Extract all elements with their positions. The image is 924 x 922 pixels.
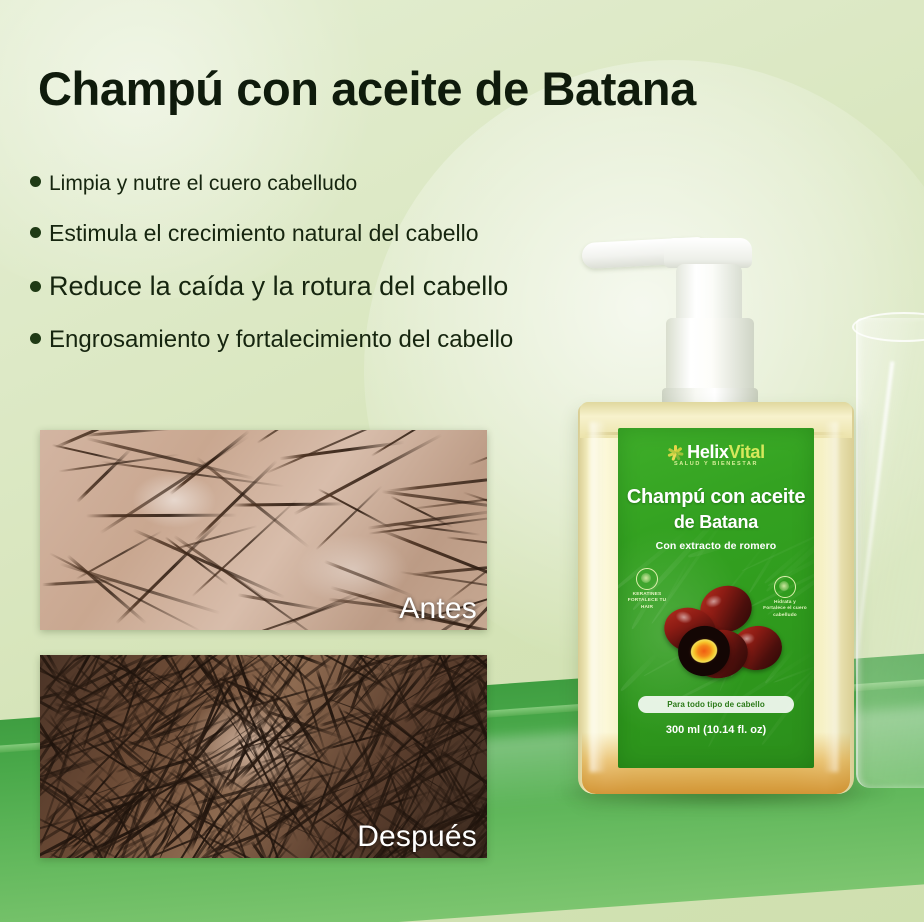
hair-strand (305, 844, 358, 858)
hair-strand (175, 751, 254, 827)
hair-strand (129, 655, 205, 682)
hair-strand (330, 655, 385, 692)
label-title-line-2: de Batana (624, 512, 808, 533)
hair-strand (391, 496, 455, 529)
hair-strand (186, 655, 234, 710)
product-bottle: HelixVital SALUD Y BIENESTAR Champú con … (578, 232, 858, 800)
hair-strand (95, 774, 141, 820)
hair-strand (40, 718, 67, 771)
hair-strand (482, 691, 487, 722)
hair-strand (260, 748, 324, 805)
hair-strand (273, 791, 326, 818)
hair-strand (262, 842, 293, 858)
before-caption: Antes (399, 592, 477, 626)
hair-strand (276, 784, 354, 842)
hair-strand (267, 815, 340, 848)
hair-strand (205, 811, 235, 853)
hair-strand (71, 655, 114, 663)
hair-strand (436, 655, 470, 737)
hair-strand (125, 763, 162, 790)
hair-strand (409, 701, 487, 741)
hair-strand (138, 658, 193, 753)
hair-strand (59, 562, 221, 614)
hair-strand (357, 672, 379, 717)
hair-strand (375, 709, 423, 748)
hair-strand (272, 791, 295, 833)
hair-strand (95, 655, 176, 716)
hair-strand (361, 685, 391, 759)
hair-strand (169, 655, 193, 699)
hair-strand (106, 655, 173, 705)
hair-strand (228, 679, 279, 713)
hair-strand (40, 655, 61, 677)
hair-strand (200, 591, 375, 630)
hair-strand (40, 693, 68, 718)
hair-strand (138, 714, 179, 779)
hair-strand (82, 792, 161, 819)
hair-strand (52, 799, 87, 858)
hair-strand (54, 701, 116, 724)
hair-strand (457, 707, 487, 762)
hair-strand (300, 655, 344, 682)
hair-strand (184, 735, 278, 782)
hair-strand (122, 686, 200, 732)
hair-strand (226, 655, 265, 733)
hair-strand (425, 655, 487, 680)
hair-strand (425, 746, 487, 778)
hair-strand (183, 775, 210, 832)
hair-strand (40, 655, 62, 685)
hair-strand (295, 662, 327, 760)
hair-strand (59, 658, 154, 712)
hair-strand (202, 780, 239, 842)
hair-strand (204, 655, 240, 730)
hair-strand (417, 759, 465, 784)
hair-strand (306, 748, 342, 843)
hair-strand (40, 841, 90, 858)
hair-strand (368, 509, 487, 530)
hair-strand (229, 709, 302, 761)
hair-strand (79, 833, 148, 858)
hair-strand (320, 704, 395, 733)
hair-strand (53, 676, 113, 725)
hair-strand (328, 655, 412, 711)
hair-strand (170, 682, 219, 745)
hair-strand (356, 702, 381, 743)
list-item: Limpia y nutre el cuero cabelludo (30, 172, 570, 196)
hair-strand (330, 655, 405, 706)
hair-strand (361, 655, 390, 684)
hair-strand (157, 706, 187, 748)
hair-strand (464, 696, 487, 770)
hair-strand (249, 662, 278, 693)
benefit-label: Reduce la caída y la rotura del cabello (49, 271, 508, 302)
bullet-dot-icon (30, 176, 41, 187)
hair-strand (408, 719, 487, 750)
hair-strand (283, 819, 332, 858)
hair-strand (49, 853, 90, 858)
hair-strand (479, 799, 487, 858)
hair-strand (59, 667, 98, 736)
label-subtitle: Con extracto de romero (624, 540, 808, 552)
hair-strand (114, 793, 190, 851)
hair-strand (124, 658, 210, 699)
hair-strand (40, 816, 129, 858)
hair-strand (226, 688, 255, 730)
hair-strand (174, 655, 283, 668)
hair-strand (116, 671, 225, 713)
hair-strand (326, 764, 381, 793)
hair-strand (276, 765, 317, 858)
hair-strand (166, 770, 223, 805)
hair-strand (257, 655, 331, 682)
hair-strand (58, 777, 163, 852)
hair-strand (40, 655, 47, 710)
hair-strand (461, 711, 487, 760)
hair-strand (136, 791, 178, 858)
hair-strand (188, 812, 243, 841)
hair-strand (239, 814, 310, 858)
hair-strand (191, 695, 236, 748)
hair-strand (447, 785, 487, 818)
hair-strand (238, 681, 326, 780)
hair-strand (204, 781, 278, 813)
hair-strand (102, 673, 139, 714)
hair-strand (96, 714, 139, 788)
hair-strand (171, 723, 218, 752)
hair-strand (71, 774, 132, 824)
hair-strand (48, 760, 110, 830)
hair-strand (149, 694, 206, 727)
hair-strand (455, 726, 487, 810)
hair-strand (240, 681, 338, 710)
hair-strand (187, 655, 248, 693)
hair-strand (257, 793, 319, 835)
hair-strand (213, 655, 293, 691)
hair-strand (144, 827, 221, 858)
bottle-highlight-right (824, 422, 838, 772)
hair-strand (452, 658, 487, 714)
hair-strand (206, 760, 291, 847)
hair-strand (359, 719, 467, 793)
hair-strand (249, 743, 299, 843)
hair-strand (40, 831, 124, 858)
hair-strand (40, 736, 80, 795)
hair-strand (244, 732, 324, 779)
hair-strand (415, 655, 478, 686)
hair-strand (49, 713, 78, 761)
hair-strand (453, 721, 487, 761)
hair-type-label: Para todo tipo de cabello (667, 700, 765, 709)
hair-strand (86, 781, 141, 858)
hair-strand (169, 430, 250, 495)
hair-strand (274, 718, 391, 772)
hair-strand (260, 655, 306, 730)
hair-strand (460, 737, 487, 827)
brand-tagline: SALUD Y BIENESTAR (618, 461, 814, 467)
hair-strand (84, 693, 174, 782)
hair-strand (61, 784, 100, 858)
hair-strand (346, 683, 405, 748)
hair-strand (226, 714, 263, 769)
hair-strand (124, 722, 200, 748)
hair-strand (86, 437, 255, 480)
hair-strand (428, 655, 458, 677)
hair-strand (415, 771, 457, 827)
hair-strand (216, 655, 258, 706)
hair-strand (447, 671, 487, 732)
hair-strand (229, 703, 263, 791)
hair-strand (197, 837, 226, 858)
hair-strand (416, 655, 466, 708)
hair-strand (138, 775, 192, 858)
hair-strand (451, 768, 487, 802)
hair-strand (427, 673, 487, 716)
hair-strand (241, 776, 318, 827)
hair-strand (256, 797, 321, 838)
hair-strand (417, 723, 469, 821)
hair-strand (342, 710, 387, 735)
volume-label: 300 ml (10.14 fl. oz) (618, 724, 814, 736)
hair-strand (134, 720, 194, 831)
hair-strand (83, 430, 181, 437)
list-item: Reduce la caída y la rotura del cabello (30, 271, 570, 302)
hair-strand (212, 698, 289, 765)
hair-strand (245, 815, 281, 841)
hair-strand (133, 655, 199, 713)
hair-strand (172, 838, 263, 858)
hair-strand (408, 657, 487, 714)
hair-strand (76, 666, 111, 702)
hair-strand (403, 672, 450, 721)
hair-strand (457, 697, 487, 731)
hair-strand (280, 655, 333, 669)
hair-strand (151, 655, 255, 733)
hair-strand (434, 769, 459, 817)
hair-strand (235, 784, 330, 816)
hair-strand (305, 683, 361, 717)
hair-strand (319, 655, 365, 700)
list-item: Engrosamiento y fortalecimiento del cabe… (30, 326, 570, 354)
hair-strand (248, 694, 316, 762)
hair-strand (40, 816, 111, 858)
hair-strand (160, 805, 212, 852)
hair-strand (228, 850, 279, 858)
hair-strand (56, 695, 113, 714)
hair-strand (206, 655, 291, 694)
hair-strand (123, 738, 189, 767)
hair-strand (202, 830, 240, 858)
hair-strand (127, 655, 194, 698)
hair-strand (477, 724, 487, 774)
hair-strand (342, 750, 382, 824)
hair-strand (40, 655, 80, 708)
hair-strand (435, 711, 471, 745)
hair-strand (59, 719, 99, 768)
hair-strand (315, 486, 382, 551)
hair-strand (405, 698, 487, 740)
hair-strand (215, 676, 294, 705)
hair-strand (116, 655, 156, 701)
hair-strand (420, 785, 485, 821)
hair-strand (92, 795, 125, 830)
hair-strand (204, 807, 228, 847)
hair-strand (49, 552, 201, 630)
hair-strand (381, 490, 487, 511)
hair-strand (115, 754, 162, 772)
hair-strand (75, 811, 128, 858)
hair-strand (404, 681, 462, 723)
hair-strand (278, 770, 341, 858)
hair-strand (234, 659, 269, 728)
hair-strand (476, 676, 487, 740)
hair-strand (62, 655, 133, 702)
hair-strand (164, 537, 228, 587)
hair-strand (164, 658, 222, 733)
brand-name-primary: Helix (687, 442, 729, 462)
hair-strand (383, 655, 425, 720)
hair-strand (405, 769, 428, 817)
hair-strand (241, 657, 275, 728)
hair-strand (40, 655, 75, 658)
hair-strand (108, 772, 166, 824)
hair-strand (321, 696, 396, 724)
hair-strand (70, 655, 99, 687)
hair-strand (151, 655, 253, 703)
hair-strand (40, 762, 93, 818)
hair-strand (304, 825, 341, 858)
hair-strand (106, 796, 198, 858)
hair-strand (172, 655, 232, 683)
hair-strand (433, 696, 478, 739)
hair-strand (415, 661, 460, 781)
hair-strand (80, 689, 133, 740)
hair-strand (86, 655, 167, 699)
list-item: Estimula el crecimiento natural del cabe… (30, 220, 570, 247)
hair-strand (106, 794, 140, 851)
hair-strand (463, 492, 487, 543)
hair-strand (390, 776, 432, 801)
hair-strand (401, 655, 431, 694)
hair-strand (475, 669, 487, 728)
hair-strand (40, 710, 104, 794)
hair-strand (220, 671, 265, 773)
hair-strand (235, 775, 262, 838)
hair-strand (368, 515, 487, 534)
hair-strand (252, 817, 302, 858)
hair-strand (474, 706, 487, 742)
hair-strand (380, 674, 447, 757)
hair-strand (135, 664, 187, 689)
hair-strand (129, 810, 175, 858)
hair-strand (151, 719, 220, 781)
badge-ring-icon (636, 568, 658, 590)
hair-strand (151, 732, 236, 781)
hair-strand (390, 655, 487, 668)
hair-strand (376, 750, 428, 807)
hair-strand (52, 655, 104, 722)
hair-strand (344, 787, 443, 819)
hair-strand (171, 525, 258, 551)
hair-strand (412, 740, 442, 776)
hair-strand (256, 430, 318, 443)
hair-strand (40, 815, 85, 838)
hair-strand (281, 754, 315, 821)
hair-strand (250, 840, 276, 858)
hair-strand (128, 756, 184, 838)
hair-strand (365, 659, 426, 728)
hair-strand (435, 691, 487, 775)
hair-strand (91, 804, 190, 855)
hair-strand (190, 771, 315, 806)
hair-strand (40, 669, 79, 734)
hair-strand (426, 757, 453, 793)
hair-strand (370, 706, 457, 771)
hair-strand (266, 775, 323, 856)
hair-strand (369, 655, 446, 738)
hair-strand (58, 453, 179, 471)
hair-strand (156, 766, 228, 789)
hair-strand (208, 559, 329, 630)
hair-strand (252, 811, 294, 850)
hair-strand (199, 681, 271, 749)
hair-strand (343, 717, 403, 741)
hair-strand (399, 713, 436, 817)
hair-strand (408, 488, 487, 510)
hair-strand (371, 430, 448, 457)
hair-strand (286, 849, 331, 858)
hair-strand (378, 529, 487, 599)
hair-strand (95, 658, 143, 702)
hair-strand (76, 448, 132, 503)
hair-strand (133, 528, 285, 598)
hair-type-pill: Para todo tipo de cabello (638, 696, 794, 713)
hair-strand (219, 740, 242, 797)
benefit-label: Estimula el crecimiento natural del cabe… (49, 220, 479, 247)
hair-strand (200, 693, 254, 711)
hair-strand (357, 666, 407, 783)
hair-strand (82, 760, 124, 807)
hair-strand (246, 718, 320, 823)
hair-strand (446, 536, 487, 549)
hair-strand (76, 808, 149, 858)
hair-strand (302, 655, 333, 685)
hair-strand (183, 749, 279, 813)
page-title: Champú con aceite de Batana (38, 64, 758, 114)
label-title-line-1: Champú con aceite (624, 486, 808, 509)
benefit-label: Limpia y nutre el cuero cabelludo (49, 172, 357, 196)
hair-strand (99, 764, 161, 858)
hair-strand (231, 502, 346, 506)
hair-strand (412, 560, 487, 576)
hair-strand (376, 736, 464, 813)
hair-strand (259, 747, 299, 833)
hair-strand (339, 655, 446, 676)
hair-strand (368, 697, 395, 750)
hair-strand (207, 692, 285, 747)
hair-strand (43, 655, 88, 692)
hair-strand (195, 460, 279, 542)
hair-strand (360, 726, 470, 794)
hair-strand (188, 671, 229, 717)
hair-strand (386, 662, 425, 741)
hair-strand (376, 707, 460, 778)
hair-strand (82, 688, 105, 751)
hair-strand (98, 781, 143, 858)
hair-strand (290, 751, 374, 827)
hair-strand (112, 672, 172, 689)
hair-strand (306, 811, 364, 858)
